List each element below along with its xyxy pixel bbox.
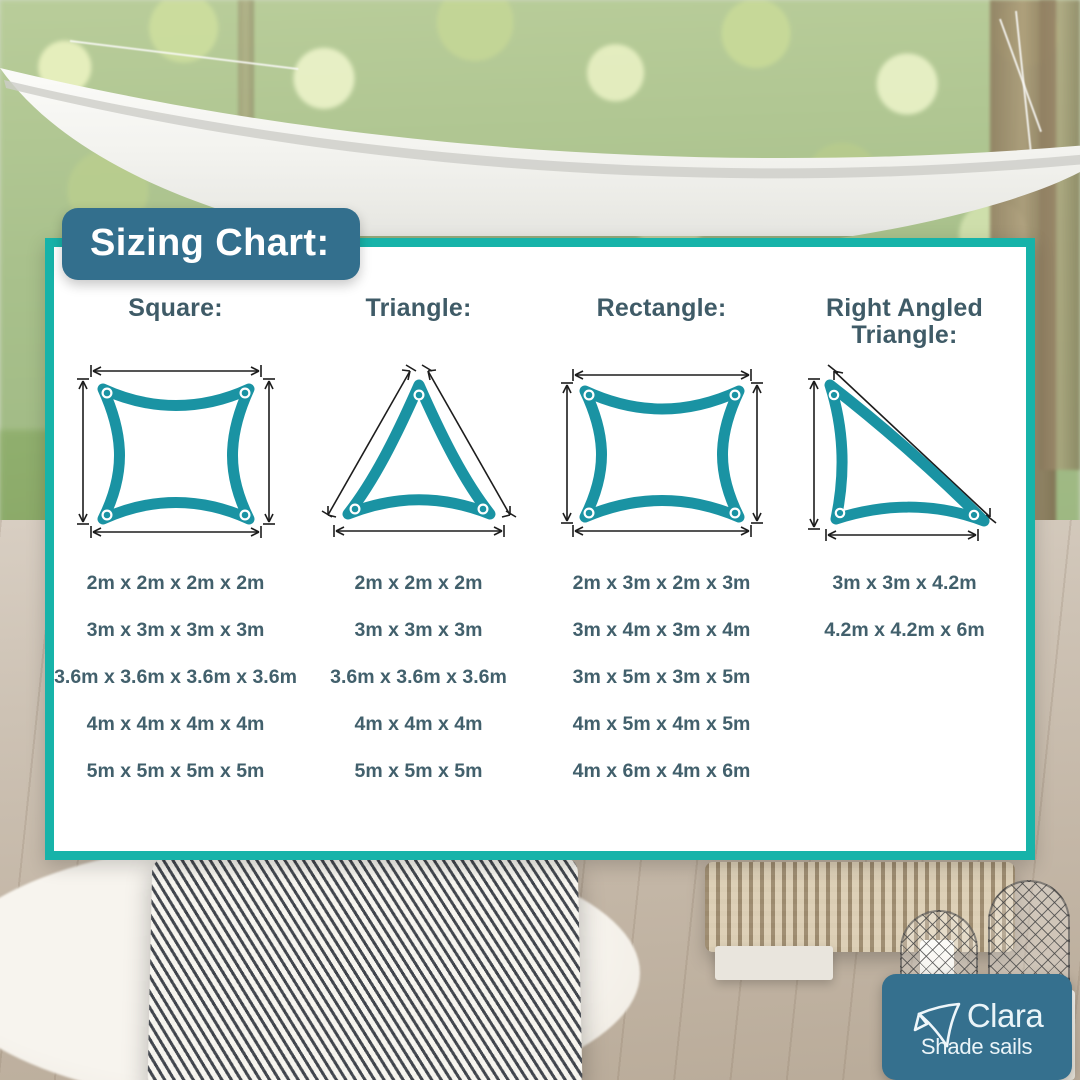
column-title-right-angled-triangle: Right Angled Triangle: [783, 295, 1026, 357]
size-list-right-angled-triangle: 3m x 3m x 4.2m 4.2m x 4.2m x 6m [783, 560, 1026, 654]
list-item: 3m x 3m x 4.2m [832, 560, 976, 607]
patterned-floor-pouf [148, 857, 583, 1080]
column-triangle: Triangle: [297, 247, 540, 851]
list-item: 3m x 5m x 3m x 5m [573, 654, 751, 701]
list-item: 4m x 4m x 4m x 4m [87, 701, 265, 748]
size-list-triangle: 2m x 2m x 2m 3m x 3m x 3m 3.6m x 3.6m x … [297, 560, 540, 795]
rectangle-sail-shape [557, 359, 767, 544]
column-square: Square: [54, 247, 297, 851]
column-title-rectangle: Rectangle: [597, 295, 727, 357]
list-item: 3m x 4m x 3m x 4m [573, 607, 751, 654]
list-item: 4m x 5m x 4m x 5m [573, 701, 751, 748]
right-angled-triangle-sail-shape [800, 359, 1010, 544]
shape-columns-grid: Square: [54, 247, 1026, 851]
list-item: 5m x 5m x 5m x 5m [87, 748, 265, 795]
basket-support-block [715, 946, 833, 980]
size-list-rectangle: 2m x 3m x 2m x 3m 3m x 4m x 3m x 4m 3m x… [540, 560, 783, 795]
list-item: 3m x 3m x 3m [355, 607, 483, 654]
logo-brand-subtitle: Shade sails [921, 1035, 1043, 1058]
list-item: 4.2m x 4.2m x 6m [824, 607, 984, 654]
column-rectangle: Rectangle: [540, 247, 783, 851]
column-title-triangle: Triangle: [366, 295, 472, 357]
column-right-angled-triangle: Right Angled Triangle: [783, 247, 1026, 851]
triangle-sail-shape [314, 359, 524, 544]
list-item: 4m x 6m x 4m x 6m [573, 748, 751, 795]
list-item: 2m x 2m x 2m x 2m [87, 560, 265, 607]
page-title: Sizing Chart: [90, 224, 330, 262]
list-item: 3.6m x 3.6m x 3.6m x 3.6m [54, 654, 297, 701]
list-item: 3m x 3m x 3m x 3m [87, 607, 265, 654]
list-item: 5m x 5m x 5m [355, 748, 483, 795]
size-list-square: 2m x 2m x 2m x 2m 3m x 3m x 3m x 3m 3.6m… [54, 560, 297, 795]
list-item: 2m x 2m x 2m [355, 560, 483, 607]
sizing-chart-header-pill: Sizing Chart: [62, 208, 360, 280]
list-item: 2m x 3m x 2m x 3m [573, 560, 751, 607]
list-item: 3.6m x 3.6m x 3.6m [330, 654, 507, 701]
tree-trunk-far-right [1040, 0, 1080, 470]
logo-brand-name: Clara [967, 1000, 1043, 1032]
sizing-chart-card: Square: [45, 238, 1035, 860]
list-item: 4m x 4m x 4m [355, 701, 483, 748]
square-sail-shape [71, 359, 281, 544]
clara-shade-sails-logo[interactable]: Clara Shade sails [882, 974, 1072, 1080]
column-title-square: Square: [128, 295, 222, 357]
